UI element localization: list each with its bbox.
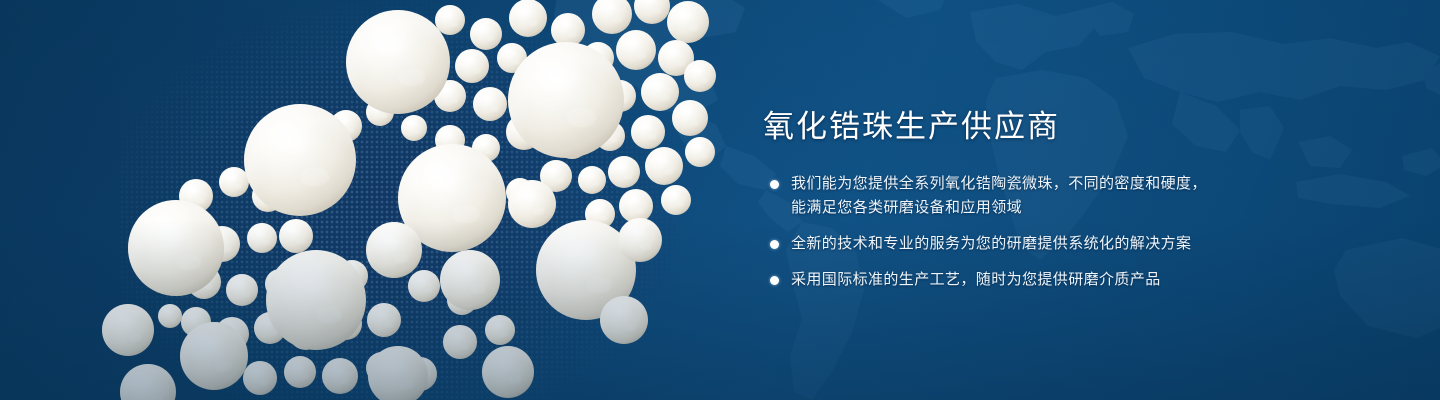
- bullet-dot-icon: [770, 240, 779, 249]
- bullet-dot-icon: [770, 180, 779, 189]
- list-item-line-1: 我们能为您提供全系列氧化锆陶瓷微珠，不同的密度和硬度，: [791, 172, 1383, 196]
- feature-list: 我们能为您提供全系列氧化锆陶瓷微珠，不同的密度和硬度， 能满足您各类研磨设备和应…: [763, 172, 1383, 292]
- page-title: 氧化锆珠生产供应商: [763, 108, 1383, 146]
- list-item-line-2: 能满足您各类研磨设备和应用领域: [791, 196, 1383, 220]
- list-item: 采用国际标准的生产工艺，随时为您提供研磨介质产品: [763, 268, 1383, 292]
- bullet-dot-icon: [770, 276, 779, 285]
- list-item: 全新的技术和专业的服务为您的研磨提供系统化的解决方案: [763, 232, 1383, 256]
- list-item-line-1: 全新的技术和专业的服务为您的研磨提供系统化的解决方案: [791, 232, 1383, 256]
- hero-banner: 氧化锆珠生产供应商 我们能为您提供全系列氧化锆陶瓷微珠，不同的密度和硬度， 能满…: [0, 0, 1440, 400]
- list-item-line-1: 采用国际标准的生产工艺，随时为您提供研磨介质产品: [791, 268, 1383, 292]
- list-item: 我们能为您提供全系列氧化锆陶瓷微珠，不同的密度和硬度， 能满足您各类研磨设备和应…: [763, 172, 1383, 220]
- banner-text-column: 氧化锆珠生产供应商 我们能为您提供全系列氧化锆陶瓷微珠，不同的密度和硬度， 能满…: [763, 108, 1383, 292]
